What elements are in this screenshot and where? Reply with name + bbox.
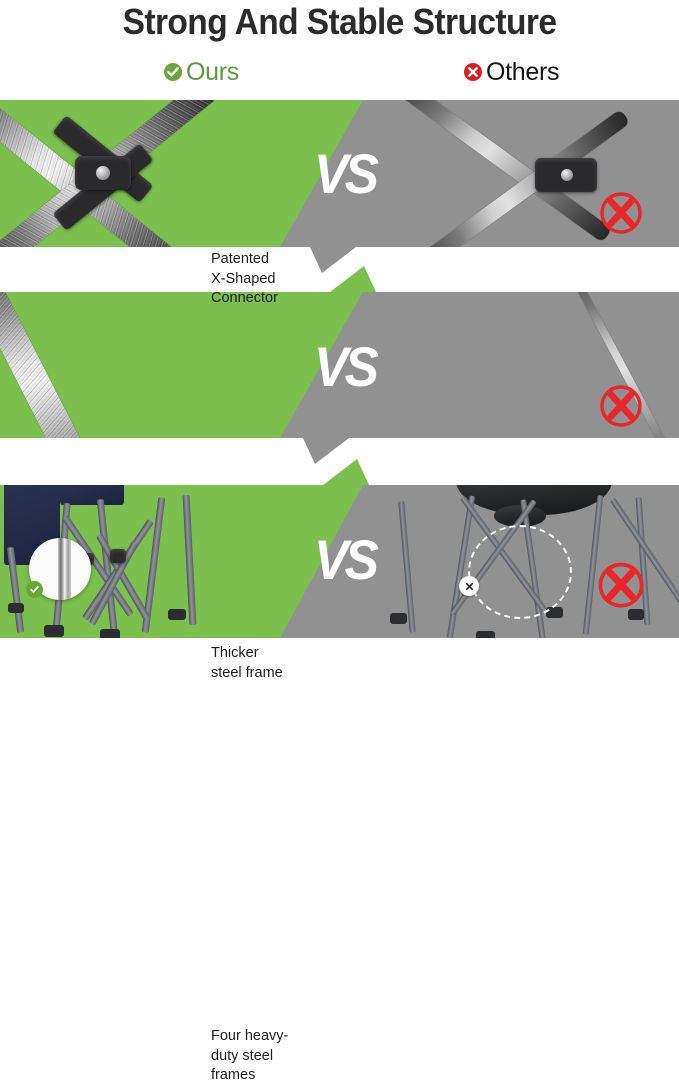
vs-label-1: VS <box>314 146 375 202</box>
check-circle-icon <box>163 62 183 82</box>
divider-wedge-down-2 <box>303 438 349 464</box>
vs-label-3: VS <box>314 532 375 588</box>
ours-caption-1-line2: X-Shaped <box>211 270 321 290</box>
ours-caption-2-line2: steel frame <box>211 664 321 684</box>
divider-wedge-up-2 <box>323 459 369 485</box>
infographic-page: Strong And Stable Structure Ours Others <box>0 0 679 638</box>
others-caption-2: Ordinary steel frame <box>405 644 545 683</box>
others-caption-1-line2: Safe Buckle <box>405 278 545 298</box>
page-title: Strong And Stable Structure <box>24 0 655 46</box>
ours-caption-1-line3: Connector <box>211 289 321 309</box>
x-circle-icon <box>463 62 483 82</box>
ours-caption-3-line1: Four heavy- <box>211 1027 323 1047</box>
ours-caption-3-line2: duty steel <box>211 1047 323 1067</box>
ours-caption-2: Thicker steel frame <box>211 644 321 683</box>
ours-caption-1-line1: Patented <box>211 250 321 270</box>
callout-check-icon <box>26 581 43 598</box>
others-caption-3-line2: frame <box>405 1054 545 1074</box>
divider-wedge-up-1 <box>330 266 376 292</box>
magnified-steel-tube <box>58 538 71 600</box>
header-ours: Ours <box>163 57 239 87</box>
dashed-circle-missing-frame-callout <box>468 525 572 619</box>
callout-x-icon <box>459 576 479 596</box>
red-x-circle-icon-1 <box>597 188 645 241</box>
ours-caption-2-line1: Thicker <box>211 644 321 664</box>
ours-caption-1: Patented X-Shaped Connector <box>211 250 321 309</box>
others-caption-3: No support frame <box>405 1034 545 1073</box>
others-caption-1: Normal Safe Buckle <box>405 258 545 297</box>
others-caption-2-line2: steel frame <box>405 664 545 684</box>
ours-caption-3: Four heavy- duty steel frames <box>211 1027 323 1086</box>
others-caption-3-line1: No support <box>405 1034 545 1054</box>
header-ours-label: Ours <box>186 58 239 87</box>
red-x-circle-icon-2 <box>597 381 645 434</box>
red-x-circle-icon-3 <box>595 558 647 615</box>
header-others: Others <box>463 57 559 87</box>
others-caption-2-line1: Ordinary <box>405 644 545 664</box>
ours-caption-3-line3: frames <box>211 1066 323 1086</box>
others-caption-1-line1: Normal <box>405 258 545 278</box>
header-others-label: Others <box>486 58 559 87</box>
vs-label-2: VS <box>314 339 375 395</box>
